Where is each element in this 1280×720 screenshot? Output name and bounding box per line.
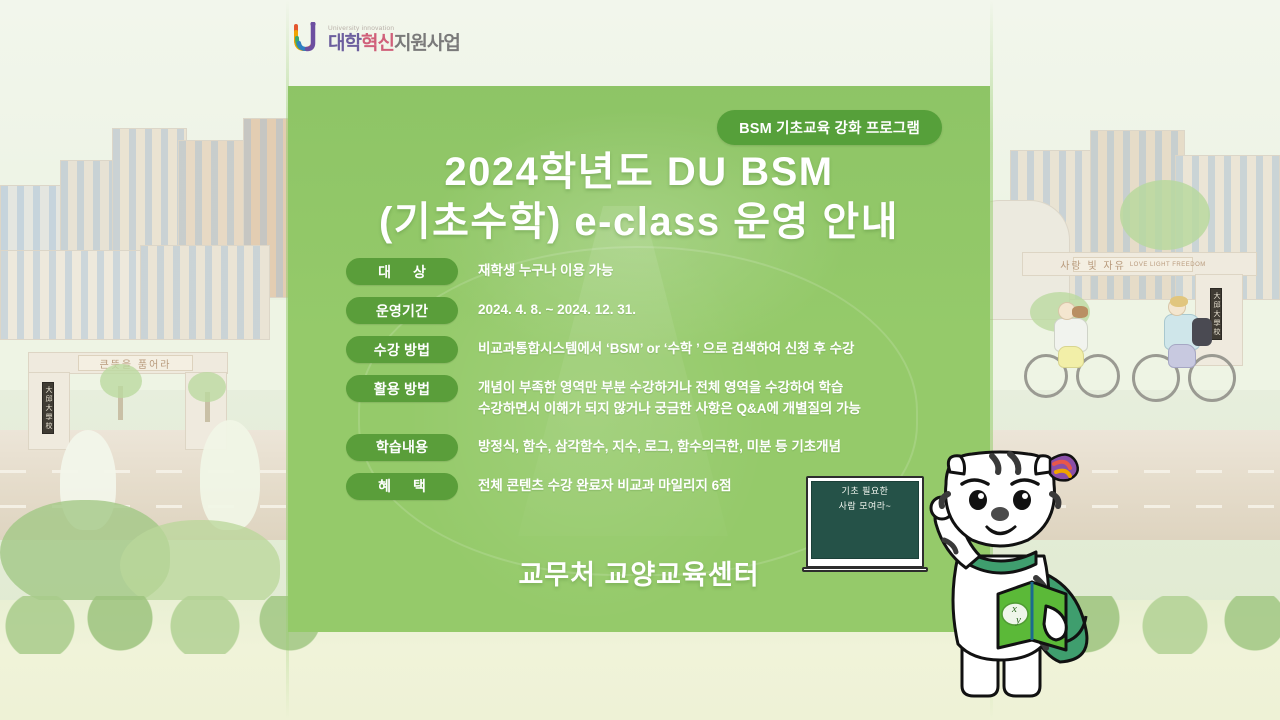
gate-right-sign-text-en: LOVE LIGHT FREEDOM [1130, 262, 1206, 268]
row-value-line-1: 재학생 누구나 이용 가능 [478, 263, 613, 278]
building [140, 245, 270, 340]
poster-title: 2024학년도 DU BSM (기초수학) e-class 운영 안내 [288, 148, 990, 247]
mascot-eye-left [969, 490, 987, 510]
row-value-line-1: 개념이 부족한 영역만 부분 수강하거나 전체 영역을 수강하여 학습 [478, 380, 843, 395]
tree-crown [100, 364, 142, 398]
row-label-enrollment-method: 수강 방법 [346, 336, 458, 363]
mascot-feather [1050, 454, 1078, 480]
conifer [200, 420, 260, 530]
row-value-line-1: 전체 콘텐츠 수강 완료자 비교과 마일리지 6점 [478, 478, 732, 493]
table-row: 운영기간 2024. 4. 8. ~ 2024. 12. 31. [346, 297, 946, 324]
row-value-line-1: 방정식, 함수, 삼각함수, 지수, 로그, 함수의극한, 미분 등 기초개념 [478, 439, 841, 454]
row-value-line-1: 2024. 4. 8. ~ 2024. 12. 31. [478, 302, 636, 317]
row-label-char-1: 혜 [378, 476, 391, 496]
row-label-daesang: 대상 [346, 258, 458, 285]
uj-logo-mark-icon [292, 22, 322, 54]
row-value: 2024. 4. 8. ~ 2024. 12. 31. [478, 297, 636, 321]
cyclist-left [1022, 300, 1132, 410]
row-value: 재학생 누구나 이용 가능 [478, 258, 613, 282]
row-label-curriculum: 학습내용 [346, 434, 458, 461]
row-value: 개념이 부족한 영역만 부분 수강하거나 전체 영역을 수강하여 학습 수강하면… [478, 375, 861, 420]
gate-right-sign: 사랑 빛 자유 LOVE LIGHT FREEDOM [1073, 257, 1193, 272]
poster-title-line-2: (기초수학) e-class 운영 안내 [288, 198, 990, 248]
gate-right-sign-text-ko: 사랑 빛 자유 [1060, 257, 1126, 272]
logo-text-block: University innovation 대학혁신지원사업 [328, 26, 460, 55]
row-label-char-2: 택 [413, 476, 426, 496]
tree-crown [188, 372, 226, 402]
mascot-eye-right [1013, 490, 1031, 510]
book-label-y: y [1015, 614, 1021, 626]
cyclist-right [1130, 296, 1250, 414]
program-badge: BSM 기초교육 강화 프로그램 [717, 110, 942, 145]
table-row: 학습내용 방정식, 함수, 삼각함수, 지수, 로그, 함수의극한, 미분 등 … [346, 434, 946, 461]
row-label-benefit: 혜택 [346, 473, 458, 500]
mascot-nose [991, 507, 1009, 521]
row-value: 방정식, 함수, 삼각함수, 지수, 로그, 함수의극한, 미분 등 기초개념 [478, 434, 841, 458]
table-row: 수강 방법 비교과통합시스템에서 ‘BSM’ or ‘수학 ’ 으로 검색하여 … [346, 336, 946, 363]
info-row-list: 대상 재학생 누구나 이용 가능 운영기간 2024. 4. 8. ~ 2024… [346, 258, 946, 512]
logo-english-text: University innovation [328, 26, 460, 33]
logo-korean-text: 대학혁신지원사업 [328, 34, 460, 53]
row-value: 비교과통합시스템에서 ‘BSM’ or ‘수학 ’ 으로 검색하여 신청 후 수… [478, 336, 854, 360]
building [0, 250, 150, 340]
poster-title-line-1: 2024학년도 DU BSM [288, 148, 990, 198]
table-row: 대상 재학생 누구나 이용 가능 [346, 258, 946, 285]
tree-crown [1120, 180, 1210, 250]
row-label-period: 운영기간 [346, 297, 458, 324]
row-value-line-2: 수강하면서 이해가 되지 않거나 궁금한 사항은 Q&A에 개별질의 가능 [478, 399, 861, 420]
table-row: 활용 방법 개념이 부족한 영역만 부분 수강하거나 전체 영역을 수강하여 학… [346, 375, 946, 420]
row-label-char-1: 대 [378, 262, 391, 282]
university-innovation-logo: University innovation 대학혁신지원사업 [292, 16, 462, 54]
logo-korean-part2: 혁신 [361, 33, 394, 54]
row-label-char-2: 상 [413, 262, 426, 282]
white-tiger-mascot: x y [900, 448, 1120, 712]
row-value-line-1: 비교과통합시스템에서 ‘BSM’ or ‘수학 ’ 으로 검색하여 신청 후 수… [478, 341, 854, 356]
logo-korean-part3: 지원사업 [394, 33, 460, 54]
logo-korean-part1: 대학 [328, 33, 361, 54]
row-label-usage-method: 활용 방법 [346, 375, 458, 402]
row-value: 전체 콘텐츠 수강 완료자 비교과 마일리지 6점 [478, 473, 732, 497]
gate-left-vertical-sign: 大邱大學校 [42, 382, 54, 434]
